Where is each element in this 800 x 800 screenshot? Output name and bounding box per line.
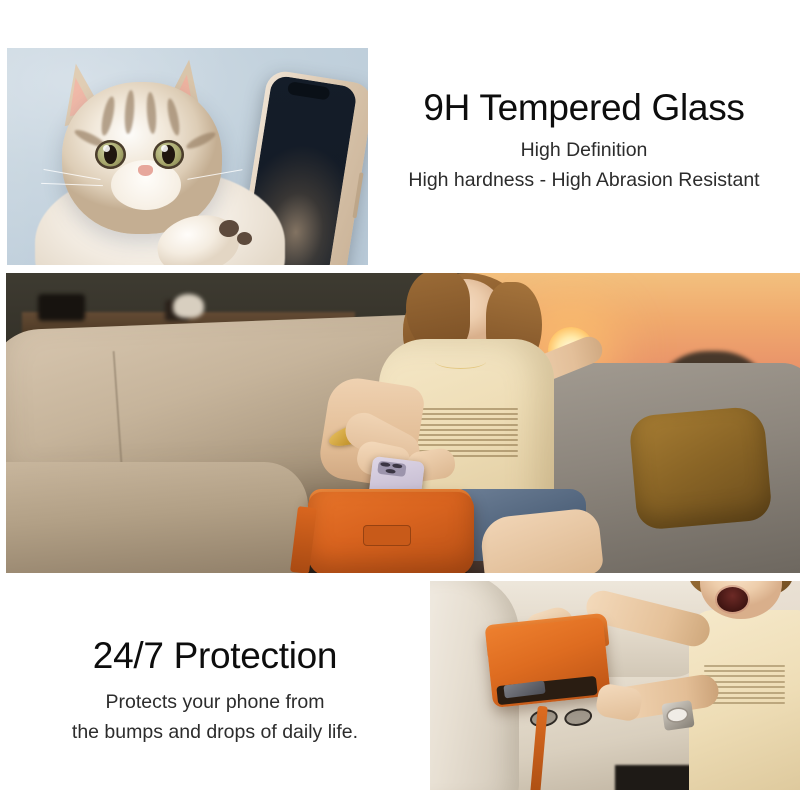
photo-bag-snatch	[430, 581, 800, 790]
cat-nose	[138, 165, 153, 176]
photo-woman-bagging-phone	[6, 273, 800, 573]
photo-kitten-touching-phone	[7, 48, 368, 265]
cat-toe-pad	[237, 232, 252, 245]
protection-text-block: 24/7 Protection Protects your phone from…	[8, 634, 422, 744]
bottom-subtitle-line-1: Protects your phone from	[8, 691, 422, 714]
cat-eye-glint	[103, 145, 110, 152]
top-subtitle-line-2: High hardness - High Abrasion Resistant	[368, 169, 800, 192]
phone-camera-module	[377, 460, 406, 476]
cat-eye-left	[95, 140, 126, 169]
page-title: 9H Tempered Glass	[368, 86, 800, 130]
cat-head	[62, 82, 222, 234]
cat-eye-right	[153, 140, 184, 169]
product-feature-collage: 9H Tempered Glass High Definition High h…	[0, 0, 800, 800]
tempered-glass-text-block: 9H Tempered Glass High Definition High h…	[368, 86, 800, 192]
sofa-armrest	[6, 462, 308, 573]
handbag-front-tab	[363, 525, 411, 546]
bottom-subtitle-line-2: the bumps and drops of daily life.	[8, 721, 422, 744]
necklace	[435, 354, 487, 369]
room-decor-box	[38, 294, 86, 321]
top-subtitle-line-1: High Definition	[368, 139, 800, 162]
throw-pillow-brown	[629, 405, 773, 530]
protection-title: 24/7 Protection	[8, 634, 422, 678]
wristwatch	[661, 700, 694, 731]
cat-eye-glint	[161, 145, 168, 152]
room-decor-vase	[173, 294, 205, 318]
